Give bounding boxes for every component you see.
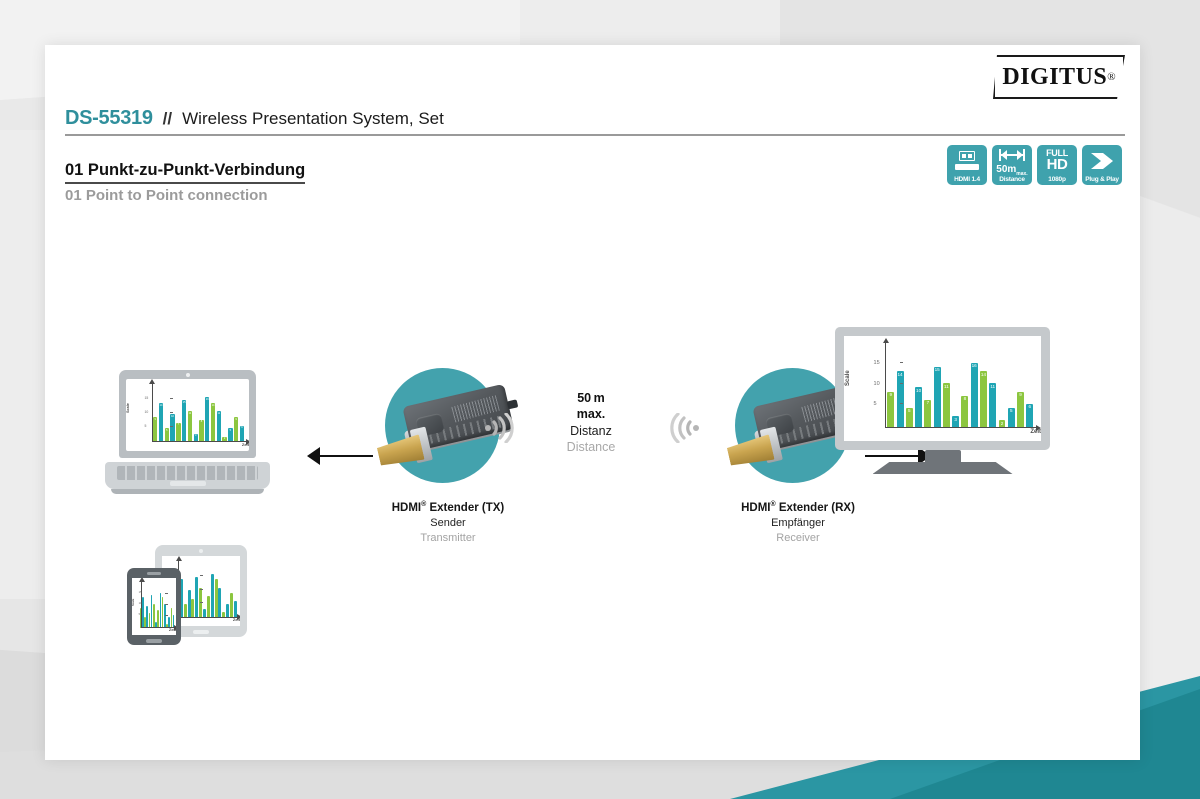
chart-bar-value: 14: [211, 405, 215, 408]
chart-x-axis: [152, 441, 247, 442]
chart-bar: 8: [207, 596, 210, 618]
chart-bar: 16: [971, 363, 978, 429]
chart-bar: 14: [211, 403, 215, 442]
chart-bar: 7: [176, 423, 180, 443]
tv-neck: [925, 450, 961, 464]
laptop-screen: 9145107151138161411259651015ScaleZeit: [126, 379, 249, 451]
logo-registered-mark: ®: [1107, 71, 1115, 83]
chart-y-tick: 10: [144, 411, 148, 414]
laptop-base: [105, 462, 270, 489]
feature-badge-list: HDMI 1.4 50mmax. Distance FULL HD: [947, 145, 1122, 185]
projector-icon: [947, 145, 987, 177]
chart-bar-value: 11: [188, 413, 192, 416]
tv-chart: 9145107151138161411259651015ScaleZeit: [844, 336, 1041, 441]
chart-bar: 10: [146, 606, 148, 628]
badge-distance-caption: Distance: [999, 177, 1025, 184]
chart-bar: 16: [160, 593, 162, 629]
chart-bar: 15: [195, 577, 198, 618]
chart-bar: 10: [188, 590, 191, 617]
logo-wordmark: DIGITUS: [1002, 65, 1107, 89]
chart-y-tick: 5: [874, 402, 877, 408]
chart-bar: 5: [228, 428, 232, 442]
brand-logo: DIGITUS®: [993, 55, 1125, 99]
badge-plug-and-play: Plug & Play: [1082, 145, 1122, 185]
chart-y-axis-label: Scale: [132, 598, 135, 605]
laptop-chart: 9145107151138161411259651015ScaleZeit: [126, 379, 249, 451]
chart-x-axis-label: Zeit: [233, 617, 240, 622]
tx-label-block: HDMI® Extender (TX) Sender Transmitter: [333, 500, 563, 546]
chart-bar-value: 5: [165, 430, 169, 433]
distance-label-block: 50 m max. Distanz Distance: [511, 390, 671, 455]
chart-y-tick: 15: [874, 361, 880, 367]
chart-bar-value: 10: [915, 389, 922, 394]
tv-bezel: 9145107151138161411259651015ScaleZeit: [835, 327, 1050, 450]
chart-bar-value: 9: [887, 393, 894, 398]
laptop-device: 9145107151138161411259651015ScaleZeit: [105, 370, 270, 495]
phone-screen: 9145107151138161411259651015ScaleZeit: [132, 578, 176, 635]
chart-bar-value: 5: [1008, 409, 1015, 414]
chart-bar: 16: [211, 574, 214, 618]
chart-bar: 11: [218, 588, 221, 618]
chart-bar-value: 14: [897, 373, 904, 378]
chart-bar-value: 11: [943, 385, 950, 390]
chart-bar: 14: [897, 371, 904, 428]
chart-x-axis: [178, 617, 238, 618]
chart-bar-value: 5: [228, 430, 232, 433]
chart-bar: 11: [943, 383, 950, 428]
chart-bar-value: 14: [159, 405, 163, 408]
chart-bar: 10: [915, 387, 922, 428]
distance-line3: Distanz: [511, 423, 671, 439]
chart-bar-value: 16: [205, 399, 209, 402]
product-sku: DS-55319: [65, 107, 153, 130]
chart-plot-area: 91451071511381614112596: [887, 347, 1033, 429]
badge-distance-value: 50mmax.: [996, 165, 1027, 177]
distance-line1: 50 m: [511, 390, 671, 406]
chart-bar: 5: [226, 604, 229, 618]
header-title-row: DS-55319 // Wireless Presentation System…: [65, 107, 1125, 136]
chart-bar-group: 91451071511381614112596: [140, 584, 174, 628]
chart-bar-value: 2: [999, 422, 1006, 427]
chart-bar: 6: [234, 601, 237, 617]
chart-bar-group: 91451071511381614112596: [887, 347, 1033, 429]
chart-bar: 5: [165, 428, 169, 442]
section-title-en: 01 Point to Point connection: [65, 187, 268, 204]
chart-bar-value: 15: [182, 402, 186, 405]
tx-label-en: Transmitter: [333, 531, 563, 546]
rx-hdmi-plug: [726, 434, 775, 469]
chart-bar: 9: [230, 593, 233, 618]
chart-bar-group: 91451071511381614112596: [176, 563, 237, 618]
chart-y-tick: 10: [874, 382, 880, 388]
chart-bar: 11: [989, 383, 996, 428]
rx-label-en: Receiver: [683, 531, 913, 546]
wireless-signal-right-icon: [667, 413, 701, 443]
chart-bar: 14: [980, 371, 987, 428]
tx-hdmi-plug: [376, 434, 425, 469]
chart-bar: 5: [184, 604, 187, 618]
connection-diagram: 9145107151138161411259651015ScaleZeit 91…: [45, 245, 1140, 715]
badge-distance: 50mmax. Distance: [992, 145, 1032, 185]
chart-y-axis-label: Scale: [126, 403, 130, 413]
chart-bar-value: 5: [906, 409, 913, 414]
arrow-to-laptop-head: [307, 447, 320, 465]
phone-device: 9145107151138161411259651015ScaleZeit: [127, 568, 181, 645]
chart-bar: 7: [191, 599, 194, 618]
badge-hdmi: HDMI 1.4: [947, 145, 987, 185]
product-name: Wireless Presentation System, Set: [182, 109, 444, 129]
laptop-trackpad: [170, 481, 206, 486]
chart-bar: 6: [1026, 404, 1033, 429]
chart-bar: 8: [157, 610, 159, 628]
chart-bar-value: 11: [989, 385, 996, 390]
chart-bar-value: 7: [176, 424, 180, 427]
chart-y-tick: 5: [144, 425, 146, 428]
chart-bar: 11: [188, 411, 192, 442]
chart-y-tick: 15: [139, 592, 142, 595]
chart-bar: 9: [887, 392, 894, 429]
chart-bar-value: 15: [934, 368, 941, 373]
tv-display: 9145107151138161411259651015ScaleZeit: [835, 327, 1050, 487]
chart-y-tick: 5: [139, 614, 140, 617]
chart-y-axis: [885, 342, 886, 428]
rx-label-title: HDMI® Extender (RX): [683, 500, 913, 516]
chart-bar: 5: [906, 408, 913, 428]
chevron-right-icon: [1082, 145, 1122, 177]
chart-plot-area: 91451071511381614112596: [153, 386, 244, 442]
chart-bar: 15: [934, 367, 941, 428]
chart-y-axis-label: Scale: [845, 371, 851, 387]
chart-bar: 15: [182, 400, 186, 442]
distance-arrow-icon: [992, 148, 1032, 164]
tx-label-title: HDMI® Extender (TX): [333, 500, 563, 516]
tv-screen: 9145107151138161411259651015ScaleZeit: [844, 336, 1041, 441]
tx-label-de: Sender: [333, 516, 563, 531]
chart-bar-value: 14: [980, 373, 987, 378]
chart-bar: 7: [924, 400, 931, 429]
chart-bar: 9: [153, 417, 157, 442]
chart-x-axis-label: Zeit: [169, 627, 176, 632]
chart-x-axis-label: Zeit: [242, 442, 249, 447]
badge-fullhd-caption: 1080p: [1048, 177, 1065, 184]
logo-frame: DIGITUS®: [993, 55, 1125, 99]
chart-bar-value: 11: [217, 413, 221, 416]
chart-bar: 16: [205, 397, 209, 442]
badge-fullhd-big: HD: [1047, 158, 1068, 172]
chart-bar-value: 9: [234, 419, 238, 422]
distance-line4: Distance: [511, 439, 671, 455]
chart-y-tick: 15: [144, 397, 148, 400]
chart-bar: 8: [199, 420, 203, 442]
chart-bar-value: 6: [240, 427, 244, 430]
badge-plug-and-play-caption: Plug & Play: [1085, 177, 1119, 184]
chart-bar: 14: [159, 403, 163, 442]
fullhd-icon: FULL HD: [1037, 145, 1077, 177]
chart-bar-value: 10: [170, 416, 174, 419]
chart-bar-value: 16: [971, 364, 978, 369]
chart-bar-value: 9: [1017, 393, 1024, 398]
chevron-right-svg: [1089, 151, 1115, 171]
laptop-foot: [111, 489, 264, 494]
rx-label-block: HDMI® Extender (RX) Empfänger Receiver: [683, 500, 913, 546]
chart-bar-value: 7: [924, 401, 931, 406]
title-separator: //: [163, 109, 172, 129]
arrow-to-laptop-line: [317, 455, 373, 457]
chart-plot-area: 91451071511381614112596: [140, 584, 174, 628]
mobile-devices-group: 9145107151138161411259651015ScaleZeit 91…: [127, 545, 247, 645]
badge-hdmi-caption: HDMI 1.4: [954, 177, 980, 184]
chart-bar: 10: [170, 414, 174, 442]
slide-canvas: DIGITUS® DS-55319 // Wireless Presentati…: [0, 0, 1200, 799]
chart-bar: 9: [1017, 392, 1024, 429]
chart-bar: 5: [1008, 408, 1015, 428]
rx-label-de: Empfänger: [683, 516, 913, 531]
chart-bar-value: 3: [952, 418, 959, 423]
badge-fullhd: FULL HD 1080p: [1037, 145, 1077, 185]
chart-bar-group: 91451071511381614112596: [153, 386, 244, 442]
laptop-keyboard: [117, 466, 258, 480]
chart-bar: 14: [215, 579, 218, 617]
chart-bar-value: 8: [199, 421, 203, 424]
chart-bar: 11: [217, 411, 221, 442]
chart-x-axis: [885, 427, 1037, 428]
tv-stand: [873, 462, 1013, 474]
content-card: DIGITUS® DS-55319 // Wireless Presentati…: [45, 45, 1140, 760]
chart-bar: 9: [171, 608, 173, 628]
chart-y-axis: [152, 383, 153, 442]
phone-chart: 9145107151138161411259651015ScaleZeit: [132, 578, 176, 635]
chart-plot-area: 91451071511381614112596: [176, 563, 237, 618]
chart-bar: 9: [234, 417, 238, 442]
chart-bar: 6: [240, 426, 244, 443]
laptop-lid: 9145107151138161411259651015ScaleZeit: [119, 370, 256, 458]
section-title-de: 01 Punkt-zu-Punkt-Verbindung: [65, 161, 305, 184]
chart-y-tick: 10: [139, 603, 142, 606]
chart-bar-value: 6: [1026, 405, 1033, 410]
chart-bar-value: 8: [961, 397, 968, 402]
distance-line2: max.: [511, 406, 671, 422]
chart-bar-value: 3: [194, 435, 198, 438]
chart-bar: 8: [961, 396, 968, 429]
chart-x-axis-label: Zeit: [1030, 429, 1041, 435]
chart-bar-value: 9: [153, 419, 157, 422]
